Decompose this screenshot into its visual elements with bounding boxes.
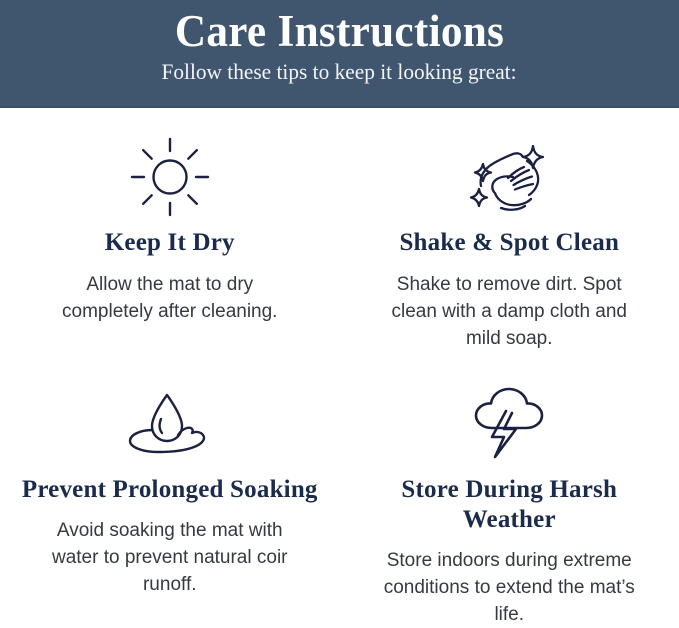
care-tip-card-prevent-prolonged-soaking: Prevent Prolonged Soaking Avoid soaking … bbox=[0, 365, 340, 628]
card-body: Store indoors during extreme conditions … bbox=[383, 535, 635, 628]
storm-cloud-lightning-icon bbox=[466, 379, 552, 465]
header-banner: Care Instructions Follow these tips to k… bbox=[0, 0, 679, 108]
washing-hands-icon bbox=[461, 134, 557, 220]
care-tip-card-keep-it-dry: Keep It Dry Allow the mat to dry complet… bbox=[0, 108, 340, 365]
care-tip-card-store-during-harsh-weather: Store During Harsh Weather Store indoors… bbox=[340, 365, 679, 628]
card-title: Store During Harsh Weather bbox=[354, 465, 666, 535]
care-instructions-infographic: Care Instructions Follow these tips to k… bbox=[0, 0, 679, 628]
card-body: Shake to remove dirt. Spot clean with a … bbox=[383, 258, 635, 352]
water-droplet-puddle-icon bbox=[122, 379, 218, 465]
card-body: Allow the mat to dry completely after cl… bbox=[44, 258, 296, 325]
sun-icon bbox=[129, 134, 211, 220]
care-tip-card-shake-and-spot-clean: Shake & Spot Clean Shake to remove dirt.… bbox=[340, 108, 679, 365]
card-title: Keep It Dry bbox=[105, 220, 235, 258]
page-title: Care Instructions bbox=[175, 0, 504, 57]
card-body: Avoid soaking the mat with water to prev… bbox=[44, 505, 296, 598]
care-tips-grid: Keep It Dry Allow the mat to dry complet… bbox=[0, 108, 679, 628]
card-title: Prevent Prolonged Soaking bbox=[22, 465, 318, 505]
card-title: Shake & Spot Clean bbox=[399, 220, 619, 258]
page-subtitle: Follow these tips to keep it looking gre… bbox=[162, 57, 517, 85]
